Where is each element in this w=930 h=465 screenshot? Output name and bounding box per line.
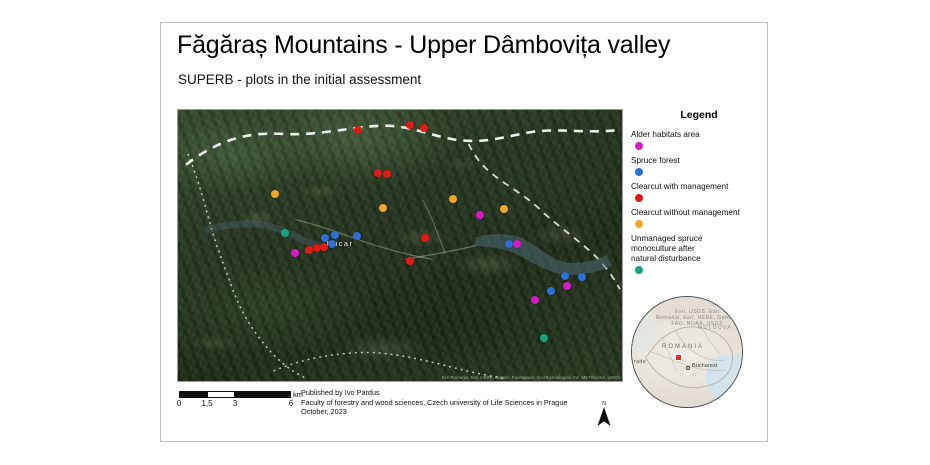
plot-point-clearcut-without-management[interactable] [271,190,279,198]
plot-point-spruce-forest[interactable] [353,232,361,240]
plot-point-clearcut-with-management[interactable] [406,121,414,129]
map-canvas[interactable]: Rucar Esri Romania, Esri, HERE, Garmin, … [178,110,622,381]
plot-point-clearcut-with-management[interactable] [406,257,414,265]
inset-locator-map[interactable]: Esri, USGS, EsriRomania, Esri, HERE, Gar… [631,296,743,408]
legend-item[interactable]: Alder habitats area [631,130,753,150]
inset-country-label: ROMANIA [662,344,704,350]
plot-point-clearcut-with-management[interactable] [420,124,428,132]
scale-bar: km 01,536 [179,391,299,411]
legend-item-swatch [635,168,643,176]
page-subtitle: SUPERB - plots in the initial assessment [178,72,421,87]
page-title: Făgăraș Mountains - Upper Dâmbovița vall… [177,31,670,60]
plot-point-alder-habitats-area[interactable] [513,240,521,248]
scale-bar-tick: 6 [289,399,293,408]
legend-item-swatch [635,266,643,274]
plot-point-alder-habitats-area[interactable] [291,249,299,257]
legend-title: Legend [645,109,753,121]
plot-point-spruce-forest[interactable] [561,272,569,280]
scale-bar-tick: 3 [233,399,237,408]
plot-point-clearcut-with-management[interactable] [354,126,362,134]
plot-point-spruce-forest[interactable] [331,231,339,239]
plot-point-spruce-forest[interactable] [321,234,329,242]
inset-study-area-marker [675,354,682,361]
plot-point-clearcut-with-management[interactable] [383,170,391,178]
credits-line-2: Faculty of forestry and wood sciences, C… [301,398,567,408]
credits-line-3: October, 2023 [301,407,567,417]
map-poster: Făgăraș Mountains - Upper Dâmbovița vall… [160,22,768,442]
credits-line-1: Published by Ivo Pardus [301,388,567,398]
scale-seg-3 [235,391,291,398]
legend-item-label: Unmanaged sprucemonoculture afternatural… [631,234,753,264]
plot-point-unmanaged-spruce-monoculture[interactable] [281,229,289,237]
legend-items: Alder habitats areaSpruce forestClearcut… [631,130,753,274]
legend-item-swatch [635,142,643,150]
north-arrow: N [593,401,615,432]
legend-item[interactable]: Spruce forest [631,156,753,176]
main-map[interactable]: Rucar Esri Romania, Esri, HERE, Garmin, … [177,109,623,382]
plot-point-clearcut-with-management[interactable] [421,234,429,242]
plot-point-spruce-forest[interactable] [547,287,555,295]
plot-point-clearcut-without-management[interactable] [500,205,508,213]
screenshot-root: Făgăraș Mountains - Upper Dâmbovița vall… [0,0,930,465]
legend-item[interactable]: Clearcut without management [631,208,753,228]
legend-item[interactable]: Unmanaged sprucemonoculture afternatural… [631,234,753,274]
plot-point-clearcut-with-management[interactable] [374,169,382,177]
inset-edge-label: rade [634,359,646,365]
plot-point-spruce-forest[interactable] [578,273,586,281]
legend-panel: Legend Alder habitats areaSpruce forestC… [631,109,753,289]
inset-city-label: Bucharest [692,363,717,369]
plot-point-clearcut-without-management[interactable] [449,195,457,203]
plot-point-clearcut-without-management[interactable] [379,204,387,212]
legend-item-label: Clearcut without management [631,208,753,218]
plot-point-alder-habitats-area[interactable] [476,211,484,219]
legend-item-swatch [635,220,643,228]
legend-item-swatch [635,194,643,202]
map-vignette [178,110,622,381]
plot-point-unmanaged-spruce-monoculture[interactable] [540,334,548,342]
scale-bar-ticks: 01,536 [179,399,299,411]
scale-bar-segments: km [179,391,291,398]
north-arrow-icon [596,407,612,427]
plot-point-alder-habitats-area[interactable] [563,282,571,290]
plot-point-clearcut-with-management[interactable] [320,243,328,251]
plot-point-spruce-forest[interactable] [328,240,336,248]
legend-item-label: Alder habitats area [631,130,753,140]
inset-neighbour-label: MOLDOVA [698,325,732,331]
scale-seg-1 [179,391,207,398]
inset-city-dot [686,366,690,370]
scale-bar-tick: 0 [177,399,181,408]
legend-item-label: Clearcut with management [631,182,753,192]
scale-seg-2 [207,391,235,398]
plot-point-alder-habitats-area[interactable] [531,296,539,304]
scale-bar-tick: 1,5 [201,399,212,408]
credits-block: Published by Ivo Pardus Faculty of fores… [301,388,567,417]
legend-item-label: Spruce forest [631,156,753,166]
legend-item[interactable]: Clearcut with management [631,182,753,202]
